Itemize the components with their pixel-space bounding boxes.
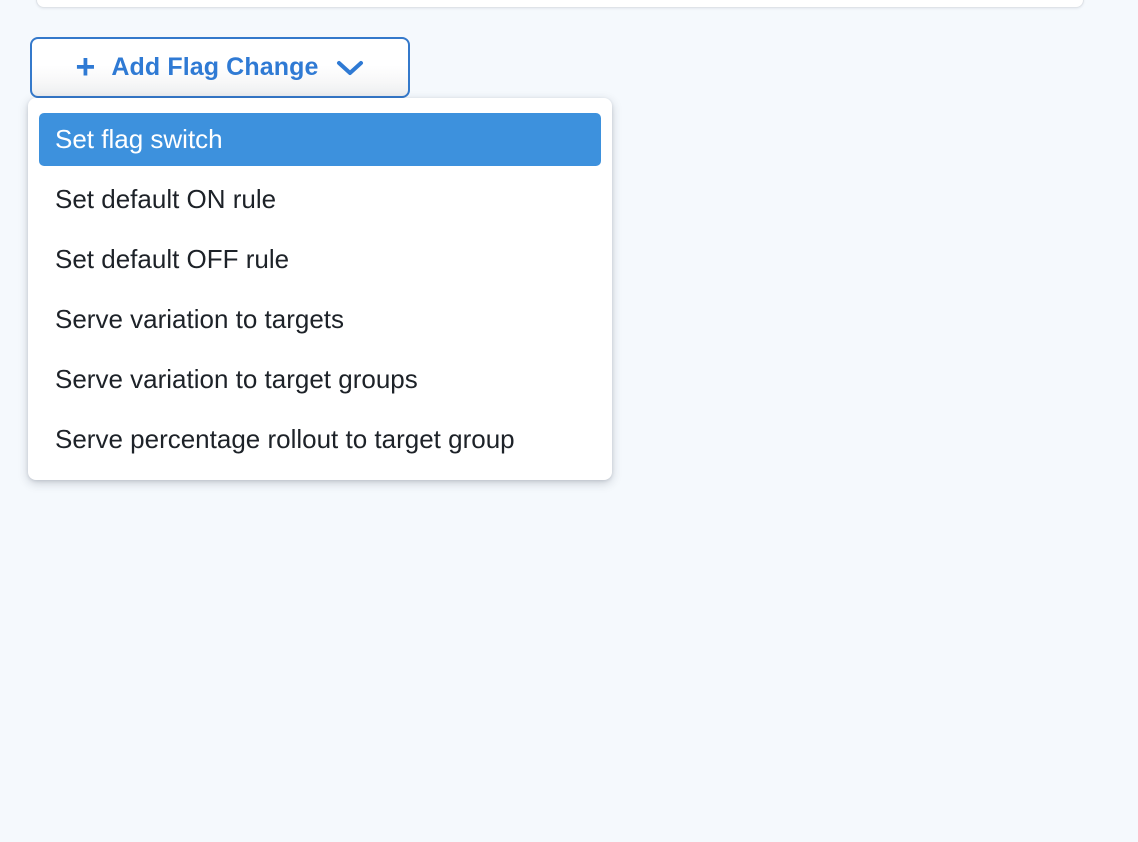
menu-item-serve-percentage-rollout-to-target-group[interactable]: Serve percentage rollout to target group: [39, 413, 601, 466]
menu-item-label: Serve variation to target groups: [55, 364, 418, 395]
plus-icon: +: [76, 50, 96, 84]
menu-item-set-default-on-rule[interactable]: Set default ON rule: [39, 173, 601, 226]
flag-change-menu[interactable]: Set flag switch Set default ON rule Set …: [28, 98, 612, 480]
add-flag-change-label: Add Flag Change: [111, 53, 318, 82]
menu-item-label: Set flag switch: [55, 124, 223, 155]
panel-above: [36, 0, 1084, 8]
menu-item-set-default-off-rule[interactable]: Set default OFF rule: [39, 233, 601, 286]
menu-item-serve-variation-to-target-groups[interactable]: Serve variation to target groups: [39, 353, 601, 406]
menu-item-label: Set default ON rule: [55, 184, 276, 215]
menu-item-serve-variation-to-targets[interactable]: Serve variation to targets: [39, 293, 601, 346]
menu-item-label: Serve variation to targets: [55, 304, 344, 335]
add-flag-change-button[interactable]: + Add Flag Change: [30, 37, 410, 98]
chevron-down-icon: [336, 59, 364, 77]
menu-item-label: Serve percentage rollout to target group: [55, 424, 515, 455]
menu-item-set-flag-switch[interactable]: Set flag switch: [39, 113, 601, 166]
menu-item-label: Set default OFF rule: [55, 244, 289, 275]
